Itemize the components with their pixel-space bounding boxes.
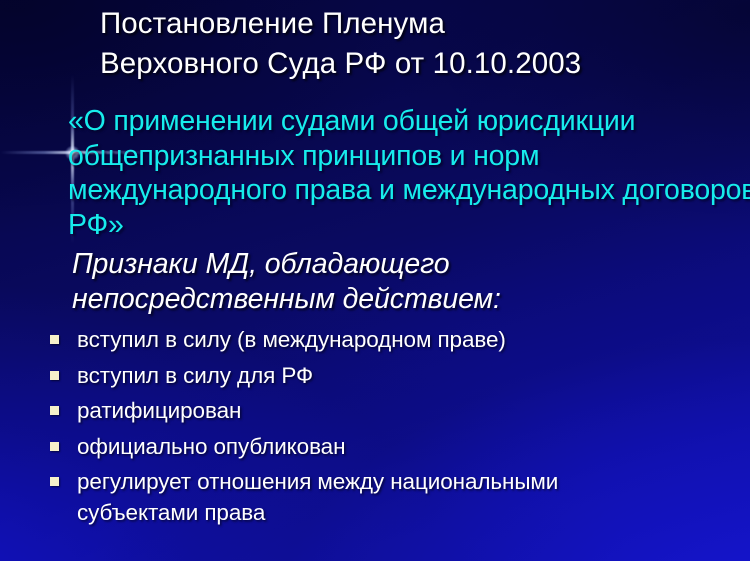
list-item: ратифицирован [46, 395, 746, 426]
criteria-bullet-list: вступил в силу (в международном праве) в… [46, 324, 746, 533]
bullet-square-icon [50, 477, 59, 486]
list-item-label: регулирует отношения между национальными… [77, 466, 746, 528]
bullet-square-icon [50, 406, 59, 415]
slide-subheading: Признаки МД, обладающего непосредственны… [72, 247, 732, 316]
list-item-label: ратифицирован [77, 395, 746, 426]
list-item-label: официально опубликован [77, 431, 746, 462]
list-item-label: вступил в силу для РФ [77, 360, 746, 391]
bullet-square-icon [50, 371, 59, 380]
list-item-label: вступил в силу (в международном праве) [77, 324, 746, 355]
bullet-square-icon [50, 442, 59, 451]
slide-title: Постановление Пленума Верховного Суда РФ… [100, 4, 745, 84]
list-item: регулирует отношения между национальными… [46, 466, 746, 528]
list-item: официально опубликован [46, 431, 746, 462]
presentation-slide: Постановление Пленума Верховного Суда РФ… [0, 0, 750, 561]
slide-quote-text: «О применении судами общей юрисдикции об… [68, 104, 750, 242]
list-item: вступил в силу для РФ [46, 360, 746, 391]
bullet-square-icon [50, 335, 59, 344]
list-item: вступил в силу (в международном праве) [46, 324, 746, 355]
